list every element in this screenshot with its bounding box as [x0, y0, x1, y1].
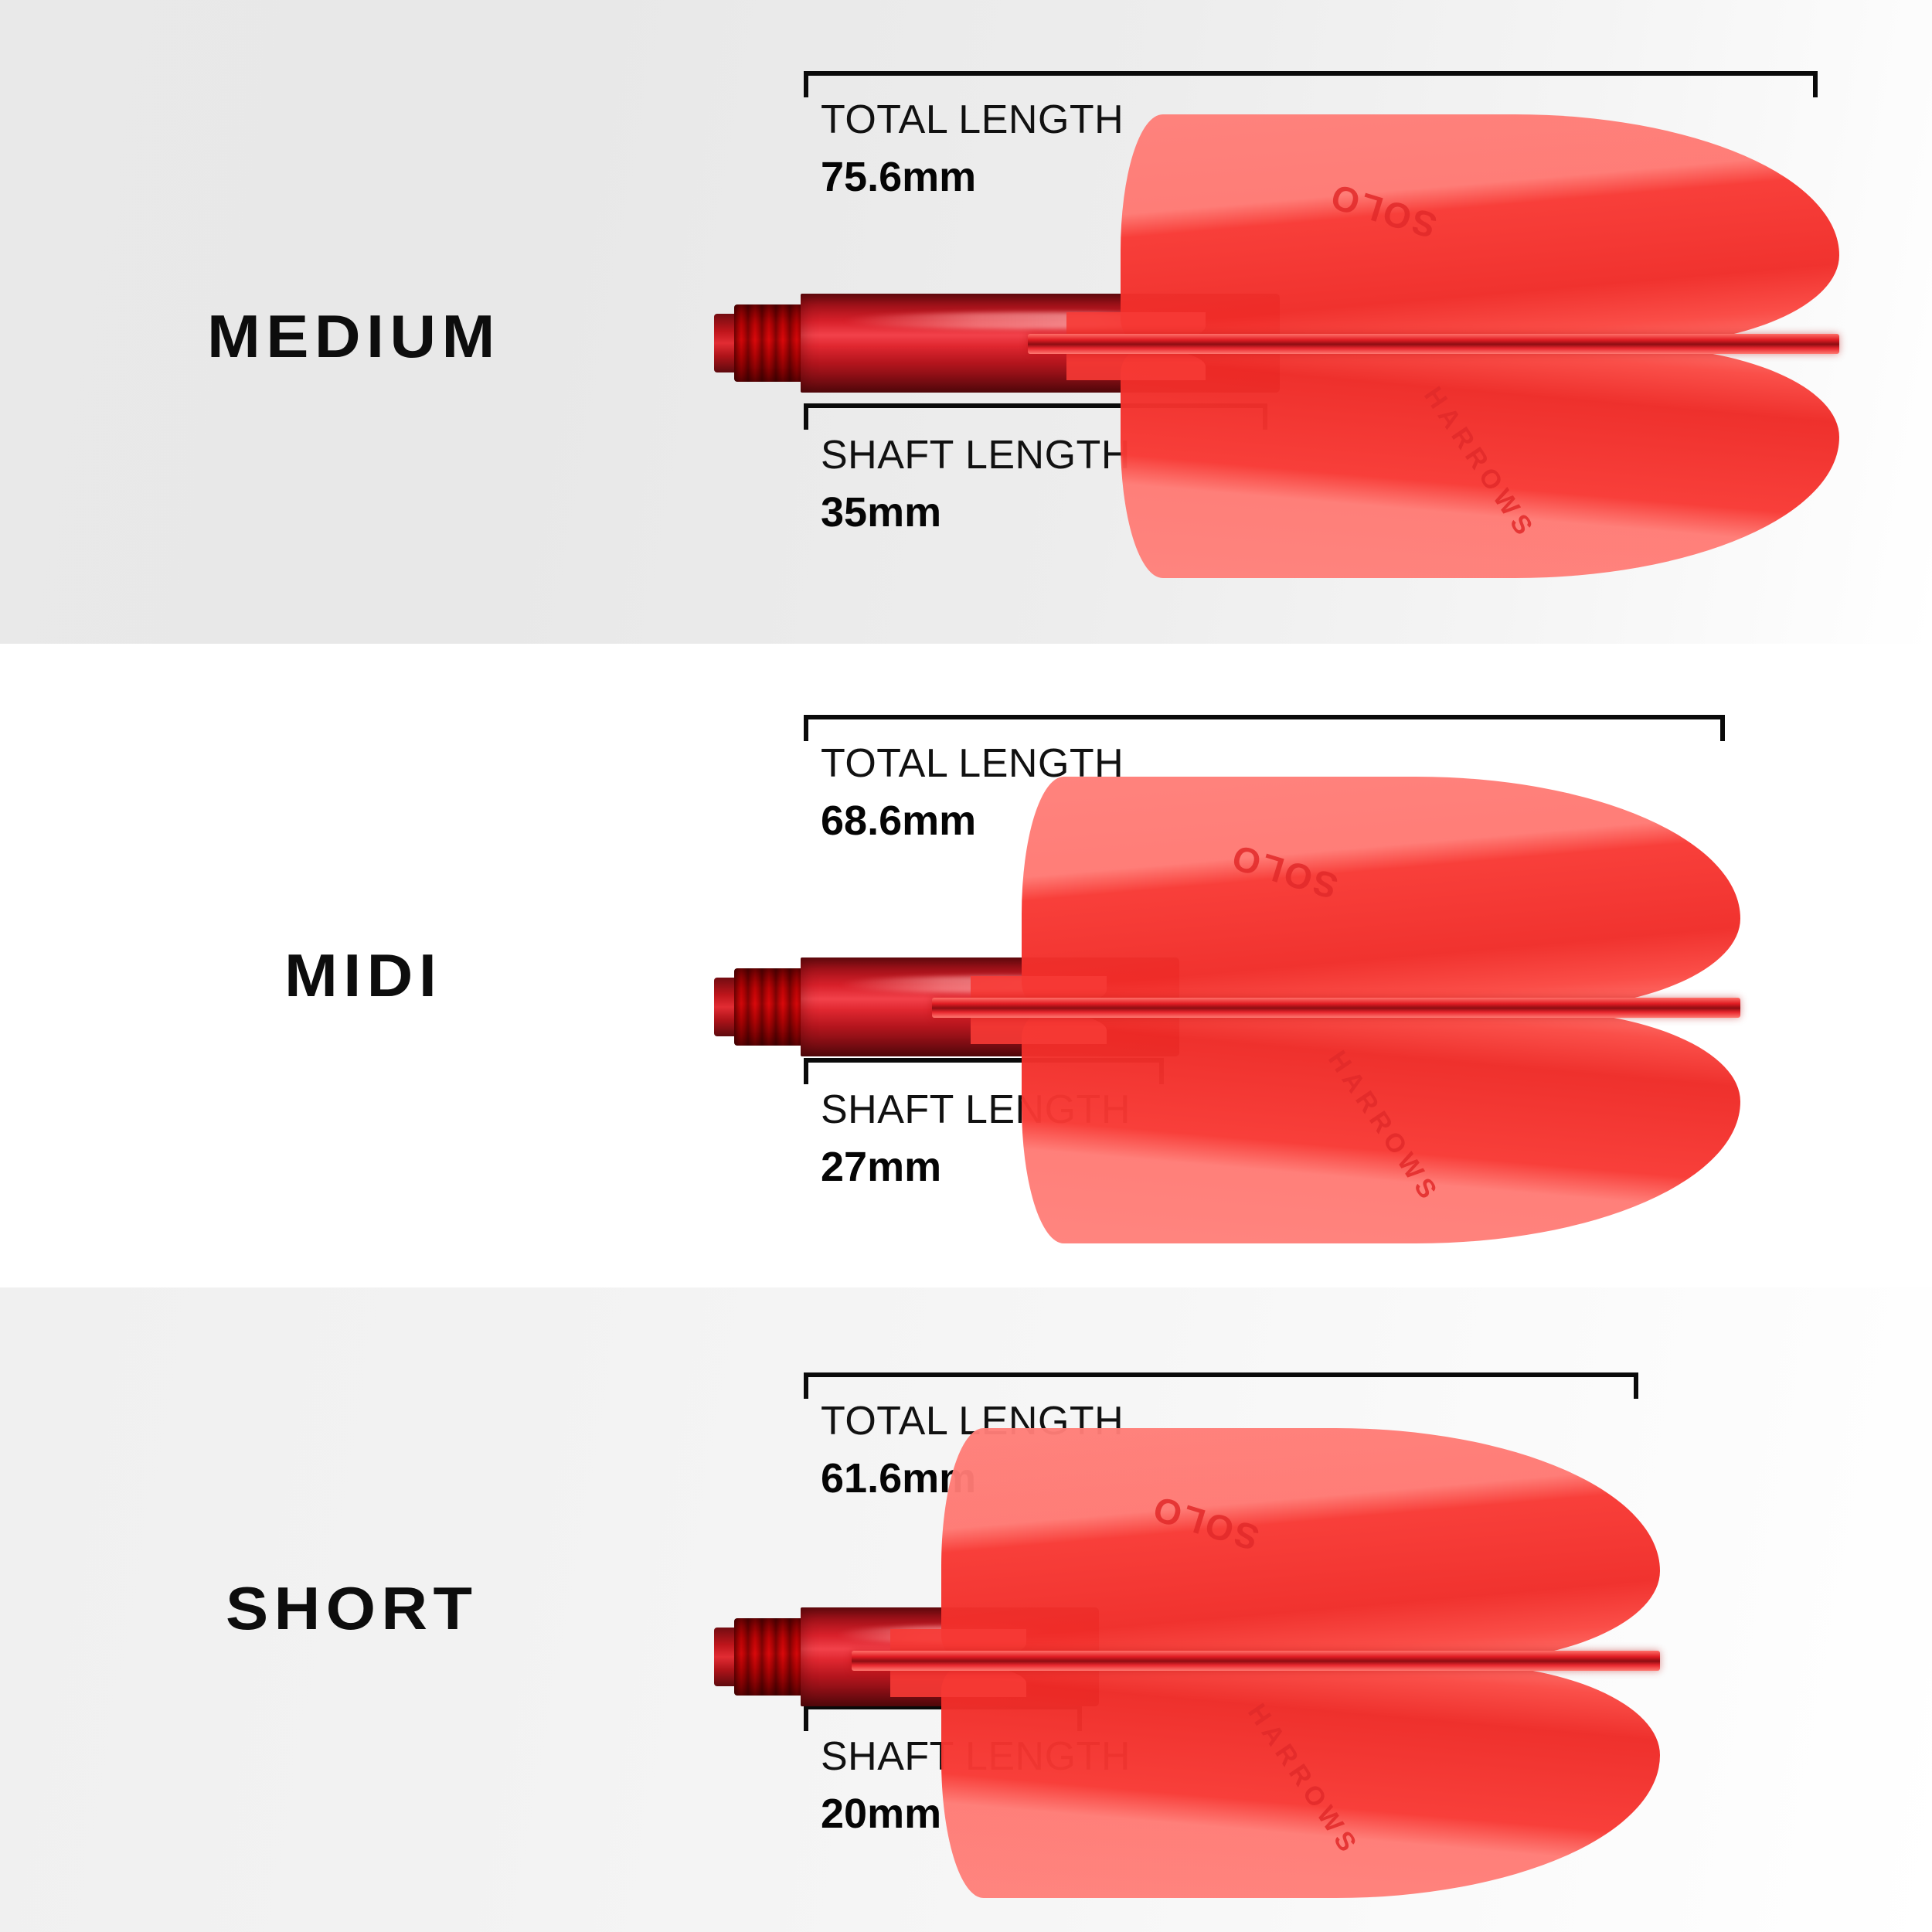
bracket-bar — [804, 1372, 1638, 1377]
flight-wing-top-midi — [1022, 777, 1740, 1010]
bracket-tick-left — [804, 1372, 808, 1399]
total-length-text-medium: TOTAL LENGTH 75.6mm — [821, 99, 1124, 199]
total-length-caption: TOTAL LENGTH — [821, 99, 1124, 141]
shaft-thread — [734, 304, 805, 382]
bracket-tick-left — [804, 403, 808, 430]
shaft-length-value: 35mm — [821, 491, 1131, 535]
variant-name-medium: MEDIUM — [207, 301, 501, 372]
shaft-length-text-medium: SHAFT LENGTH 35mm — [821, 434, 1131, 534]
shaft-length-caption: SHAFT LENGTH — [821, 434, 1131, 477]
bracket-bar — [804, 71, 1818, 76]
size-comparison-diagram: MEDIUM TOTAL LENGTH 75.6mm SHAFT LENGTH … — [0, 0, 1932, 1932]
bracket-tick-right — [1720, 715, 1725, 741]
variant-name-short: SHORT — [226, 1573, 478, 1644]
bracket-tick-left — [804, 1705, 808, 1731]
bracket-bar — [804, 715, 1725, 719]
flight-wing-top-medium — [1121, 114, 1839, 346]
total-length-bracket-medium — [804, 71, 1818, 97]
bracket-tick-left — [804, 71, 808, 97]
flight-spine-medium — [1028, 334, 1839, 354]
flight-spine-midi — [932, 998, 1740, 1018]
total-length-bracket-short — [804, 1372, 1638, 1399]
shaft-thread — [734, 968, 805, 1046]
bracket-tick-right — [1634, 1372, 1638, 1399]
variant-panel-midi: MIDI TOTAL LENGTH 68.6mm SHAFT LENGTH 27… — [0, 644, 1932, 1287]
variant-panel-short: SHORT TOTAL LENGTH 61.6mm SHAFT LENGTH 2… — [0, 1287, 1932, 1932]
variant-name-midi: MIDI — [284, 940, 442, 1011]
flight-wing-top-short — [941, 1428, 1660, 1663]
variant-panel-medium: MEDIUM TOTAL LENGTH 75.6mm SHAFT LENGTH … — [0, 0, 1932, 644]
bracket-tick-left — [804, 1058, 808, 1084]
bracket-tick-left — [804, 715, 808, 741]
flight-spine-short — [852, 1651, 1660, 1671]
bracket-tick-right — [1813, 71, 1818, 97]
total-length-bracket-midi — [804, 715, 1725, 741]
total-length-value: 75.6mm — [821, 155, 1124, 199]
shaft-thread — [734, 1618, 805, 1696]
